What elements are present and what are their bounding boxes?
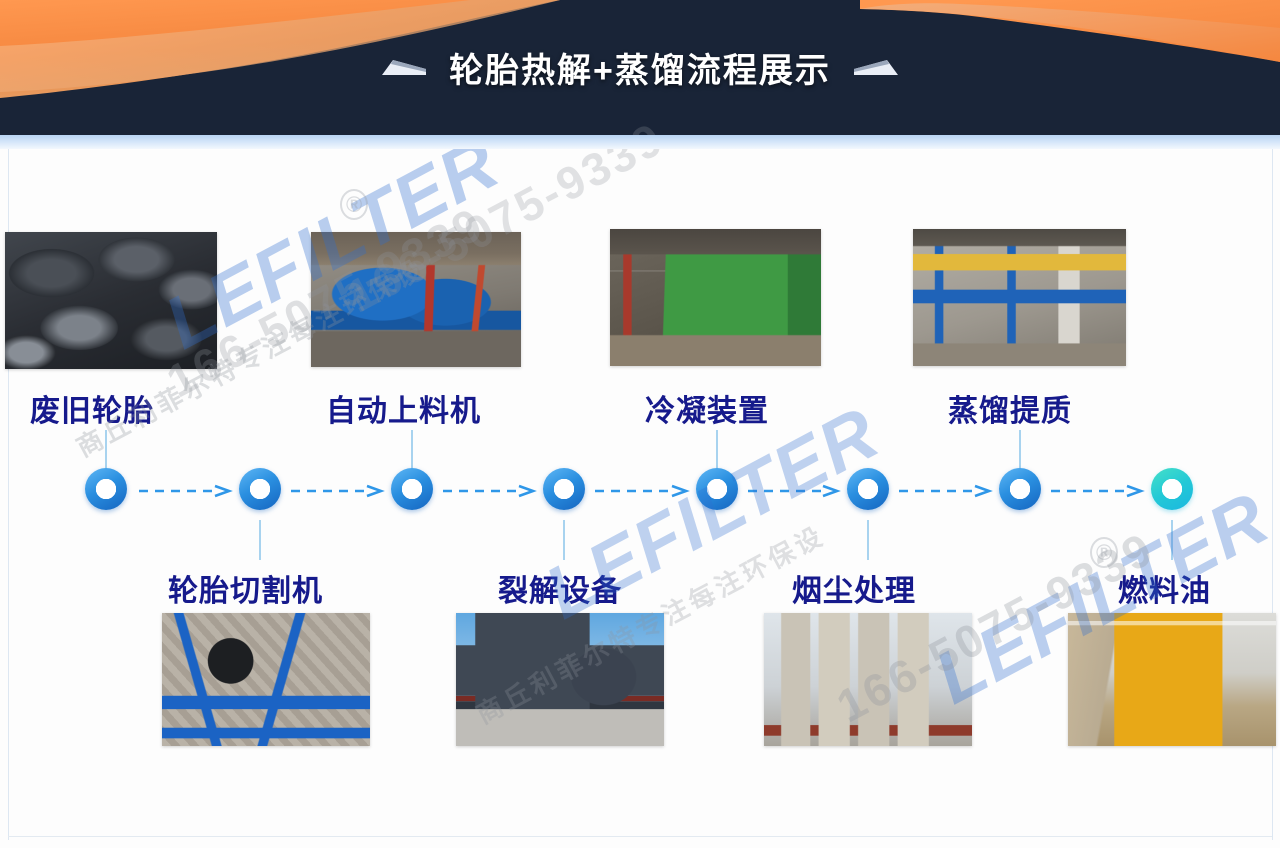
flow-label-4: 裂解设备	[498, 566, 622, 610]
connector-stem-3	[411, 430, 413, 470]
watermark-registered-top: ®	[340, 192, 368, 218]
node-ring-icon	[239, 468, 281, 510]
flow-label-1: 废旧轮胎	[30, 386, 154, 430]
connector-stem-8	[1171, 520, 1173, 560]
registered-mark-icon: ®	[340, 189, 368, 220]
left-wing-decoration-icon	[381, 59, 427, 76]
content-bottom-rule	[8, 836, 1272, 837]
flow-arrow-1	[139, 486, 231, 494]
flow-label-8: 燃料油	[1118, 566, 1211, 610]
process-flow-axis	[0, 468, 1280, 526]
flow-node-3[interactable]	[391, 468, 433, 510]
flow-node-5[interactable]	[696, 468, 738, 510]
connector-stem-2	[259, 520, 261, 560]
header-banner: 轮胎热解+蒸馏流程展示	[0, 0, 1280, 135]
flow-arrow-6	[899, 486, 991, 494]
flow-node-7[interactable]	[999, 468, 1041, 510]
flow-node-8[interactable]	[1151, 468, 1193, 510]
registered-mark-icon: ®	[1090, 537, 1118, 568]
flow-arrow-4	[595, 486, 688, 494]
photo-automatic-feeding-machine	[311, 232, 521, 367]
flow-node-6[interactable]	[847, 468, 889, 510]
flow-label-2: 轮胎切割机	[168, 566, 323, 610]
page-title: 轮胎热解+蒸馏流程展示	[449, 43, 831, 92]
flow-node-1[interactable]	[85, 468, 127, 510]
connector-stem-4	[563, 520, 565, 560]
photo-distillation-plant	[913, 229, 1126, 366]
connector-stem-6	[867, 520, 869, 560]
flow-arrow-5	[748, 486, 839, 494]
flow-arrow-2	[291, 486, 383, 494]
photo-pyrolysis-reactor-on-truck	[456, 613, 664, 746]
node-ring-icon	[391, 468, 433, 510]
flow-arrow-3	[443, 486, 535, 494]
photo-smoke-dust-treatment-towers	[764, 613, 972, 746]
connector-stem-1	[105, 430, 107, 470]
photo-fuel-oil-beaker	[1068, 613, 1276, 746]
node-ring-icon	[999, 468, 1041, 510]
photo-scrap-tires-pile	[5, 232, 217, 369]
header-bottom-band	[0, 135, 1280, 149]
node-ring-icon	[847, 468, 889, 510]
slide-root: 轮胎热解+蒸馏流程展示 LEFILTER 166-5075-9339 商丘利菲尔…	[0, 0, 1280, 848]
watermark-registered-right: ®	[1090, 540, 1118, 566]
flow-label-7: 蒸馏提质	[948, 386, 1072, 430]
flow-node-4[interactable]	[543, 468, 585, 510]
connector-stem-5	[716, 430, 718, 470]
flow-label-6: 烟尘处理	[792, 566, 916, 610]
connector-stem-7	[1019, 430, 1021, 470]
header-title-group: 轮胎热解+蒸馏流程展示	[0, 0, 1280, 135]
photo-tire-cutting-machine	[162, 613, 370, 746]
node-ring-icon	[1151, 468, 1193, 510]
flow-node-2[interactable]	[239, 468, 281, 510]
node-ring-icon	[85, 468, 127, 510]
flow-arrow-7	[1051, 486, 1143, 494]
node-ring-icon	[543, 468, 585, 510]
right-wing-decoration-icon	[853, 59, 899, 76]
photo-green-condenser-unit	[610, 229, 821, 366]
node-ring-icon	[696, 468, 738, 510]
flow-label-3: 自动上料机	[326, 386, 481, 430]
flow-label-5: 冷凝装置	[645, 386, 769, 430]
